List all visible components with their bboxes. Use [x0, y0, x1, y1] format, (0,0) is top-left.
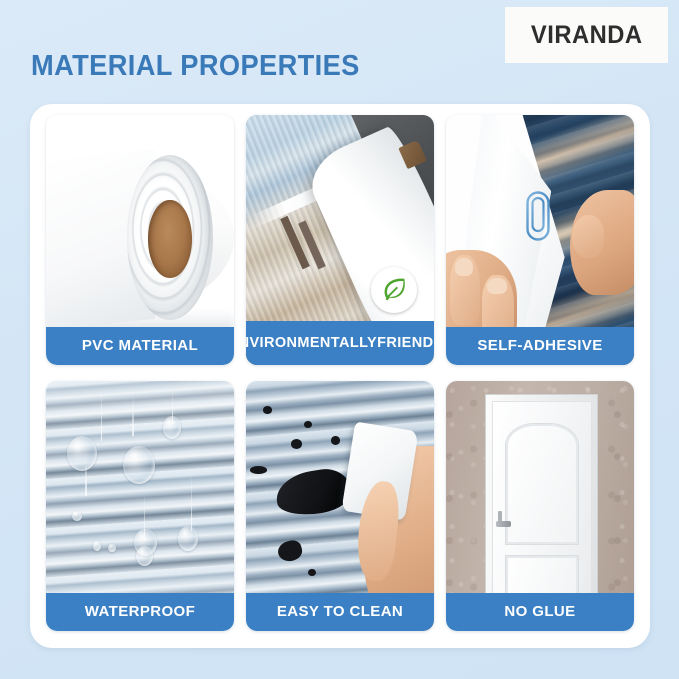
ink-stain-large: [273, 465, 354, 519]
water-drop-8: [93, 541, 101, 551]
drip-streak-1: [101, 386, 103, 441]
fingernail-2: [487, 278, 506, 295]
water-drop-1: [67, 436, 97, 471]
left-finger-1: [450, 255, 480, 325]
feature-label-environmentally-friendly: ENVIRONMENTALLYFRIENDLY: [246, 321, 434, 365]
ink-speck-5: [308, 569, 316, 576]
feature-label-pvc-material: PVC MATERIAL: [46, 327, 234, 365]
feature-card-easy-to-clean[interactable]: EASY TO CLEAN: [246, 381, 434, 631]
ink-speck-3: [291, 439, 302, 449]
fingernail-1: [455, 258, 473, 276]
right-hand-finger: [572, 215, 604, 258]
feature-card-no-glue[interactable]: NO GLUE: [446, 381, 634, 631]
drip-streak-6: [191, 471, 193, 531]
feature-label-waterproof: WATERPROOF: [46, 593, 234, 631]
features-panel: PVC MATERIAL ENVIRONMENTALLYFRIENDLY: [30, 104, 650, 648]
water-drop-7: [72, 511, 81, 521]
ink-speck-2: [304, 421, 312, 428]
feature-label-easy-to-clean: EASY TO CLEAN: [246, 593, 434, 631]
paperclip-icon: [525, 190, 551, 242]
door-handle: [496, 521, 511, 527]
page-title: MATERIAL PROPERTIES: [31, 50, 360, 83]
ink-speck-4: [331, 436, 340, 445]
drip-streak-2: [132, 396, 134, 436]
brand-logo: VIRANDA: [505, 7, 668, 63]
water-drop-2: [123, 446, 155, 484]
brand-logo-text: VIRANDA: [531, 21, 643, 50]
feature-card-self-adhesive[interactable]: SELF-ADHESIVE: [446, 115, 634, 365]
feature-label-no-glue: NO GLUE: [446, 593, 634, 631]
leaf-icon: [379, 275, 409, 305]
feature-card-environmentally-friendly[interactable]: ENVIRONMENTALLYFRIENDLY: [246, 115, 434, 365]
ink-smear: [250, 466, 267, 474]
water-drop-3: [163, 416, 182, 439]
feature-card-pvc-material[interactable]: PVC MATERIAL: [46, 115, 234, 365]
feature-card-waterproof[interactable]: WATERPROOF: [46, 381, 234, 631]
features-grid: PVC MATERIAL ENVIRONMENTALLYFRIENDLY: [46, 115, 634, 631]
water-drop-5: [178, 526, 199, 551]
door-panel-top: [506, 424, 577, 544]
ink-speck-1: [263, 406, 272, 414]
ink-stain-medium: [276, 538, 305, 564]
roll-cardboard-core: [148, 200, 191, 278]
water-drop-9: [108, 544, 116, 553]
leaf-badge: [371, 267, 417, 313]
page-header: MATERIAL PROPERTIES VIRANDA: [0, 0, 679, 105]
feature-label-self-adhesive: SELF-ADHESIVE: [446, 327, 634, 365]
